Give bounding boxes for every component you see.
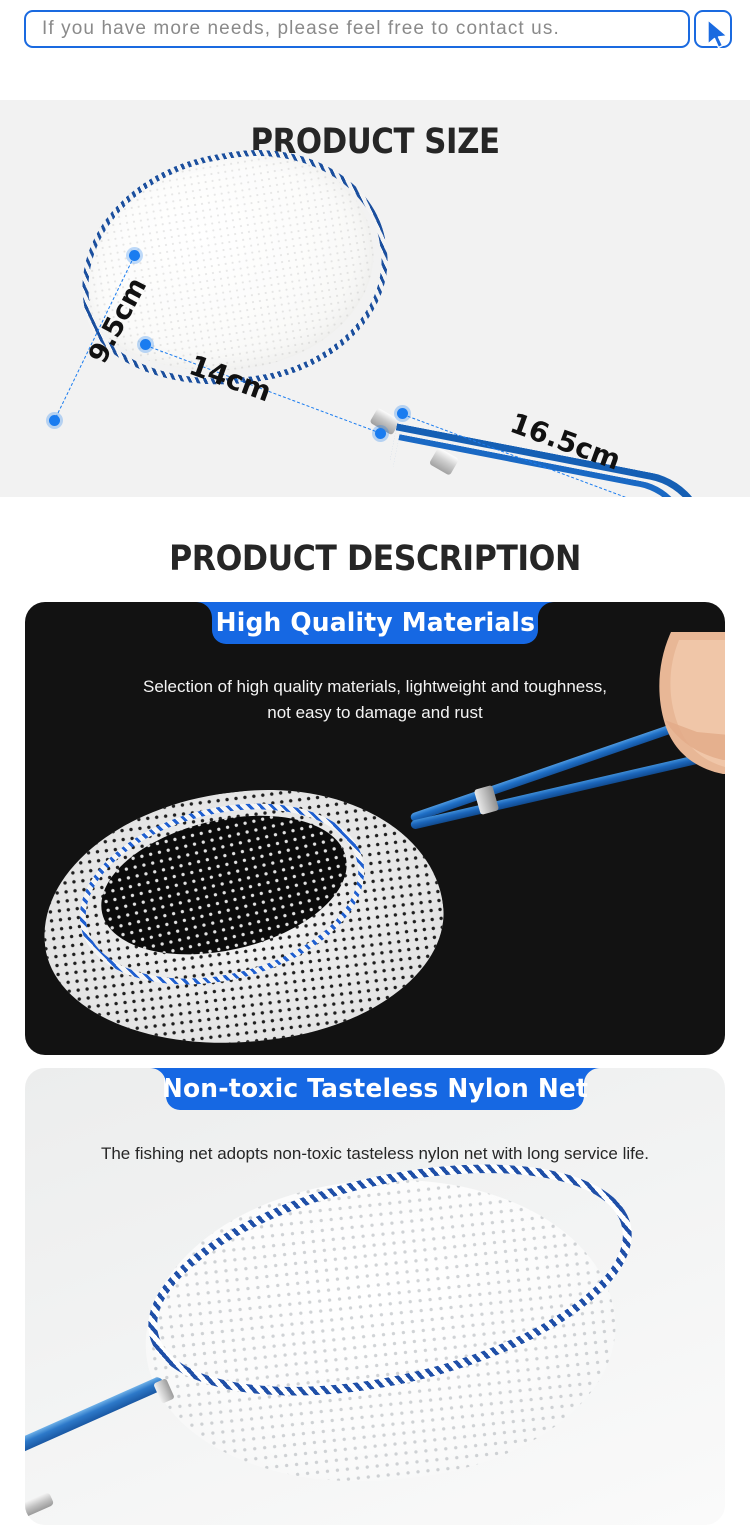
- badge-notch-left-2: [150, 1068, 166, 1084]
- badge-notch-right-1: [538, 602, 554, 618]
- contact-message-box[interactable]: If you have more needs, please feel free…: [24, 10, 690, 48]
- feature-badge-1-label: High Quality Materials: [215, 608, 535, 638]
- handle-rod-light: [25, 1376, 166, 1454]
- mouse-cursor-icon: [706, 19, 732, 49]
- feature-badge-1: High Quality Materials: [212, 602, 538, 644]
- hand-holding-handle: [619, 632, 725, 812]
- feature-badge-2: Non-toxic Tasteless Nylon Net: [166, 1068, 584, 1110]
- product-description-title: PRODUCT DESCRIPTION: [38, 539, 713, 579]
- badge-notch-right-2: [584, 1068, 600, 1084]
- feature-badge-2-label: Non-toxic Tasteless Nylon Net: [162, 1074, 588, 1104]
- feature-card-high-quality-materials: High Quality Materials Selection of high…: [25, 602, 725, 1055]
- feature-card-nylon-net: Non-toxic Tasteless Nylon Net The fishin…: [25, 1068, 725, 1525]
- handle-end-cap: [25, 1492, 54, 1519]
- product-size-photo: 9.5cm 14cm 16.5cm: [0, 100, 750, 497]
- measure-dot-14-end: [375, 428, 386, 439]
- badge-notch-left-1: [196, 602, 212, 618]
- feature-caption-2-line1: The fishing net adopts non-toxic tastele…: [25, 1141, 725, 1167]
- contact-banner: If you have more needs, please feel free…: [0, 0, 750, 100]
- product-description-section: PRODUCT DESCRIPTION High Quality Materia…: [0, 497, 750, 1525]
- product-size-section: PRODUCT SIZE 9.5cm 14cm 16.5cm: [0, 100, 750, 497]
- contact-message-text: If you have more needs, please feel free…: [42, 18, 560, 40]
